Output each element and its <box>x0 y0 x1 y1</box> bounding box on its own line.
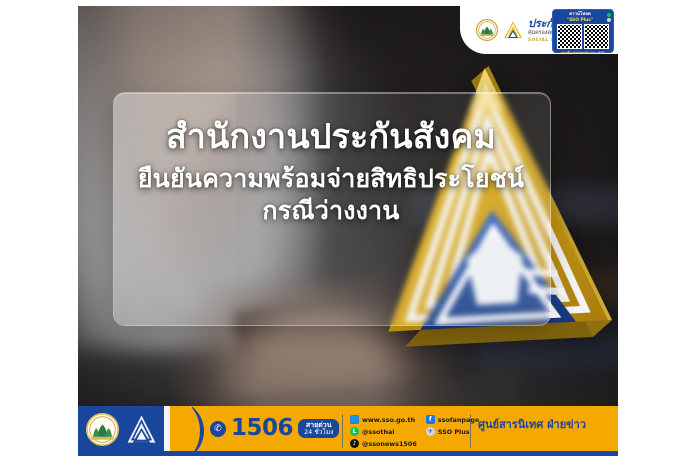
qr-download-line2: "SSO Plus" <box>567 18 593 23</box>
qr-download-box[interactable]: ดาวน์โหลด "SSO Plus" รองรับ Android และ … <box>552 9 614 53</box>
sso-poster: สำนักงานประกันสังคม ยืนยันความพร้อมจ่ายส… <box>78 6 618 456</box>
website-icon: 🌐 <box>350 415 359 424</box>
line-icon: L <box>350 427 359 436</box>
screenshot-canvas: สำนักงานประกันสังคม ยืนยันความพร้อมจ่ายส… <box>0 0 696 465</box>
qr-code-ios[interactable] <box>584 24 609 49</box>
thai-garuda-seal-icon <box>86 413 119 446</box>
social-label: SSO Plus <box>438 428 470 436</box>
qr-download-line1: ดาวน์โหลด <box>569 12 591 17</box>
hotline-badge: สายด่วน 24 ชั่วโมง <box>298 419 339 439</box>
ios-dot-icon <box>607 18 611 22</box>
qr-code-images <box>555 24 611 49</box>
qr-store-dots <box>607 13 611 22</box>
social-label: @ssonews1506 <box>362 440 417 448</box>
social-label: @ssothai <box>362 428 395 436</box>
information-center-block: ศูนย์สารนิเทศ ฝ่ายข่าว Information Cente… <box>478 418 586 443</box>
hotline-badge-line2: 24 ชั่วโมง <box>304 429 333 436</box>
bottom-bar-wave-yellow <box>170 406 200 456</box>
headline-line-2: ยืนยันความพร้อมจ่ายสิทธิประโยชน์ <box>113 164 549 193</box>
qr-code-android[interactable] <box>557 24 582 49</box>
social-label: www.sso.go.th <box>362 416 415 424</box>
headline-line-1: สำนักงานประกันสังคม <box>113 118 549 158</box>
tiktok-icon: ♪ <box>350 439 359 448</box>
qr-footer-text: รองรับ Android และ iOS <box>555 50 611 56</box>
qr-header: ดาวน์โหลด "SSO Plus" <box>555 12 611 23</box>
bottom-bar-logos <box>86 413 157 446</box>
social-links-group: 🌐 www.sso.go.th f ssofanpage L @ssothai … <box>350 415 479 448</box>
info-center-th: ศูนย์สารนิเทศ ฝ่ายข่าว <box>478 418 586 432</box>
hotline-group[interactable]: ✆ 1506 สายด่วน 24 ชั่วโมง <box>210 417 339 440</box>
sso-triangle-icon <box>503 20 523 40</box>
qr-download-text: ดาวน์โหลด "SSO Plus" <box>555 12 605 23</box>
info-center-en: Information Center <box>478 432 586 443</box>
sso-triangle-icon <box>126 414 157 445</box>
social-link-website[interactable]: 🌐 www.sso.go.th <box>350 415 417 424</box>
hotline-number: 1506 <box>231 417 293 440</box>
android-dot-icon <box>607 13 611 17</box>
social-label: ssofanpage <box>438 416 479 424</box>
headline-block: สำนักงานประกันสังคม ยืนยันความพร้อมจ่ายส… <box>113 118 549 225</box>
phone-icon: ✆ <box>210 421 226 437</box>
sso-plus-icon: + <box>426 427 435 436</box>
social-link-line[interactable]: L @ssothai <box>350 427 417 436</box>
social-link-facebook[interactable]: f ssofanpage <box>426 415 479 424</box>
headline-line-3: กรณีว่างงาน <box>113 196 549 225</box>
bottom-bar-underline <box>78 451 618 456</box>
thai-garuda-seal-icon <box>476 19 498 41</box>
bottom-contact-bar: ✆ 1506 สายด่วน 24 ชั่วโมง 🌐 www.sso.go.t… <box>78 406 618 456</box>
facebook-icon: f <box>426 415 435 424</box>
social-link-tiktok[interactable]: ♪ @ssonews1506 <box>350 439 417 448</box>
social-link-sso-plus[interactable]: + SSO Plus <box>426 427 479 436</box>
bar-divider-left <box>342 414 343 448</box>
